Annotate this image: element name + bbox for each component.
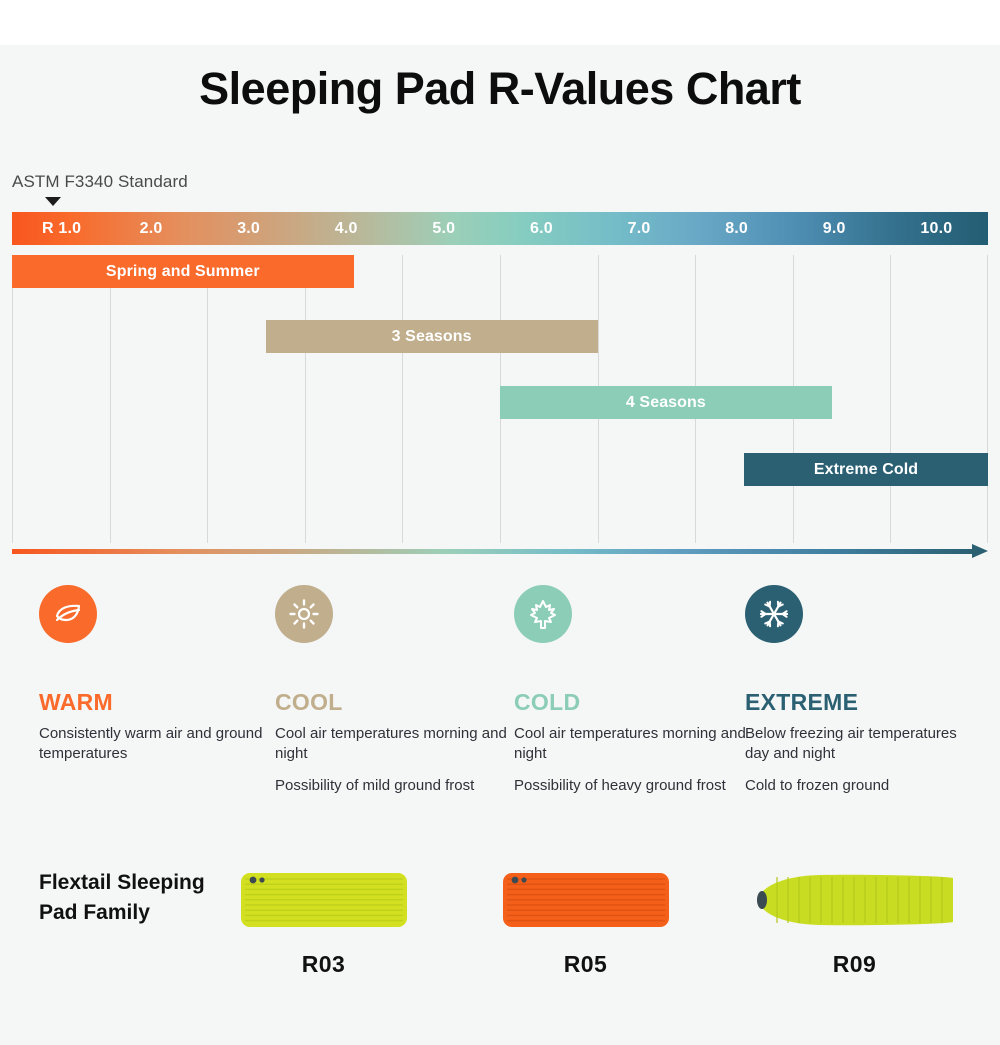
scale-tick-1: R 1.0 <box>42 212 81 245</box>
family-label: Flextail Sleeping Pad Family <box>39 868 224 928</box>
scale-tick-3: 3.0 <box>237 212 260 245</box>
scale-tick-6: 6.0 <box>530 212 553 245</box>
product-r03[interactable]: R03 <box>236 862 411 978</box>
gridline <box>110 255 111 543</box>
category-extreme: EXTREMEBelow freezing air temperatures d… <box>745 585 985 796</box>
scale-tick-9: 9.0 <box>823 212 846 245</box>
scale-tick-7: 7.0 <box>628 212 651 245</box>
scale-tick-10: 10.0 <box>920 212 952 245</box>
product-name-r03: R03 <box>236 951 411 978</box>
sun-icon <box>275 585 333 643</box>
season-bar-3-seasons: 3 Seasons <box>266 320 598 353</box>
category-desc-warm: Consistently warm air and ground tempera… <box>39 724 279 764</box>
category-desc-extreme: Cold to frozen ground <box>745 776 985 796</box>
leaf-icon <box>39 585 97 643</box>
category-desc-extreme: Below freezing air temperatures day and … <box>745 724 985 764</box>
category-title-cold: COLD <box>514 689 754 716</box>
scale-tick-4: 4.0 <box>335 212 358 245</box>
snowflake-icon <box>745 585 803 643</box>
page-title: Sleeping Pad R-Values Chart <box>0 63 1000 115</box>
chart-page: Sleeping Pad R-Values Chart ASTM F3340 S… <box>0 0 1000 1045</box>
scale-tick-8: 8.0 <box>725 212 748 245</box>
astm-standard-label: ASTM F3340 Standard <box>12 172 188 192</box>
product-name-r05: R05 <box>498 951 673 978</box>
scale-arrow-line <box>12 549 974 554</box>
pad-image-r09 <box>752 862 957 937</box>
category-title-warm: WARM <box>39 689 279 716</box>
season-bar-spring-and-summer: Spring and Summer <box>12 255 354 288</box>
category-desc-cool: Cool air temperatures morning and night <box>275 724 515 764</box>
scale-tick-2: 2.0 <box>140 212 163 245</box>
category-desc-cold: Possibility of heavy ground frost <box>514 776 754 796</box>
gridline <box>987 255 988 543</box>
category-row: WARMConsistently warm air and ground tem… <box>0 585 1000 815</box>
category-warm: WARMConsistently warm air and ground tem… <box>39 585 279 764</box>
product-name-r09: R09 <box>752 951 957 978</box>
category-cool: COOLCool air temperatures morning and ni… <box>275 585 515 796</box>
r-value-scale-bar: R 1.02.03.04.05.06.07.08.09.010.0 <box>12 212 988 245</box>
maple-leaf-icon <box>514 585 572 643</box>
triangle-down-icon <box>45 197 61 206</box>
category-desc-cool: Possibility of mild ground frost <box>275 776 515 796</box>
chart-grid-area: Spring and Summer3 Seasons4 SeasonsExtre… <box>12 255 988 543</box>
pad-image-r03 <box>236 862 411 937</box>
gridline <box>402 255 403 543</box>
category-cold: COLDCool air temperatures morning and ni… <box>514 585 754 796</box>
scale-arrow-head-icon <box>972 544 988 558</box>
gridline <box>207 255 208 543</box>
gridline <box>12 255 13 543</box>
category-title-extreme: EXTREME <box>745 689 985 716</box>
scale-tick-5: 5.0 <box>432 212 455 245</box>
gridline <box>890 255 891 543</box>
product-r09[interactable]: R09 <box>752 862 957 978</box>
pad-image-r05 <box>498 862 673 937</box>
category-title-cool: COOL <box>275 689 515 716</box>
season-bar-extreme-cold: Extreme Cold <box>744 453 988 486</box>
gridline <box>305 255 306 543</box>
category-desc-cold: Cool air temperatures morning and night <box>514 724 754 764</box>
product-r05[interactable]: R05 <box>498 862 673 978</box>
season-bar-4-seasons: 4 Seasons <box>500 386 832 419</box>
